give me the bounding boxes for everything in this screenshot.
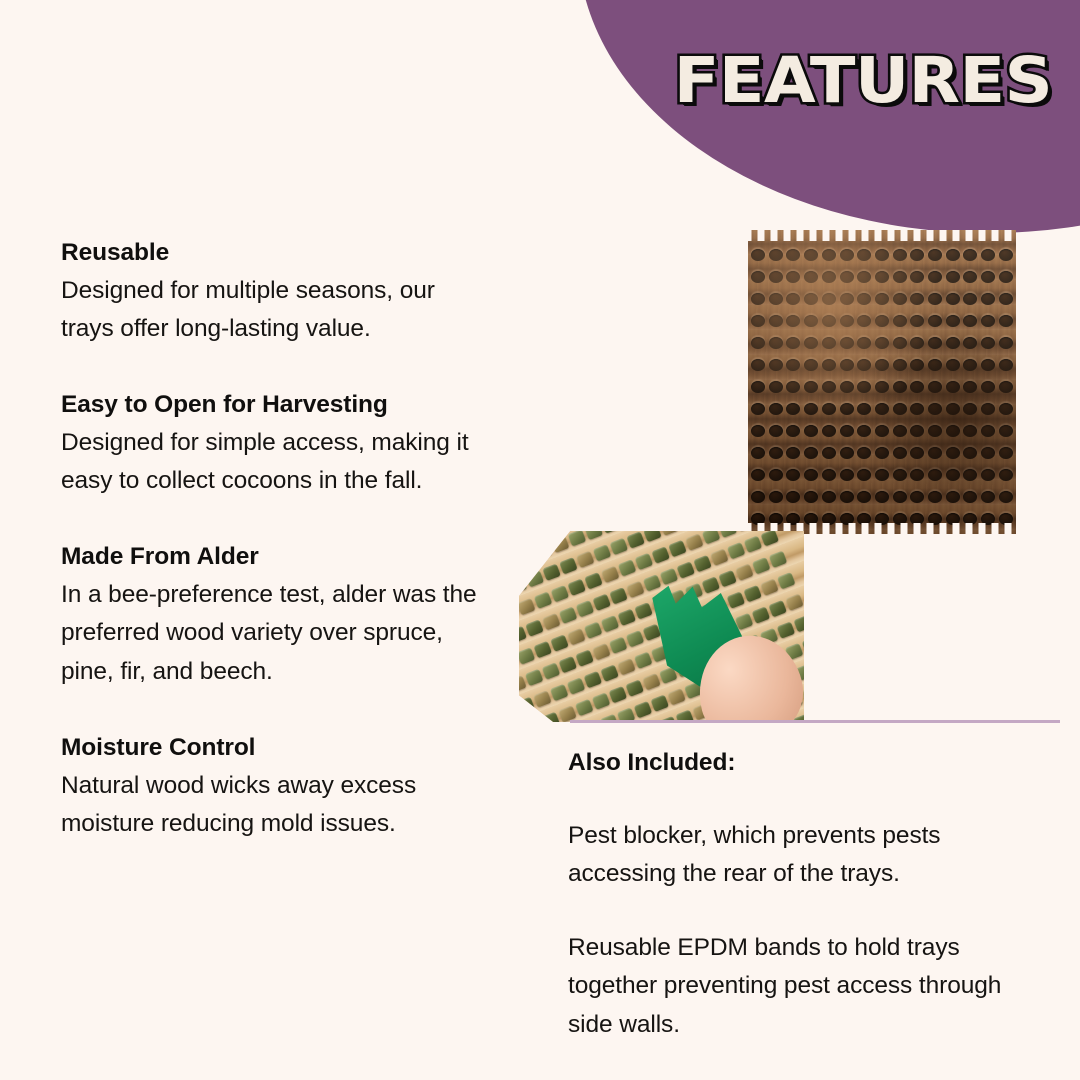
bee-cocoon	[576, 550, 595, 568]
bee-cocoon	[525, 668, 544, 686]
bee-cocoon	[643, 574, 662, 592]
bee-cocoon	[726, 591, 745, 609]
feature-item-moisture-control: Moisture Control Natural wood wicks away…	[61, 731, 491, 843]
bee-cocoon	[744, 535, 763, 553]
bee-cocoon	[634, 651, 653, 669]
bee-cocoon	[626, 580, 645, 598]
cocoon-harvesting-photo	[519, 531, 804, 722]
bee-cocoon	[519, 696, 535, 714]
features-page: FEATURES Reusable Designed for multiple …	[0, 0, 1080, 1080]
bee-cocoon	[643, 531, 662, 542]
bee-cocoon	[550, 683, 569, 701]
feature-body: Natural wood wicks away excess moisture …	[61, 767, 491, 843]
bee-cocoon	[626, 630, 645, 648]
bee-cocoon	[601, 565, 620, 583]
bee-cocoon	[777, 572, 796, 590]
bee-cocoon	[660, 567, 679, 585]
bee-cocoon	[575, 698, 594, 716]
bee-cocoon	[610, 537, 629, 555]
bee-cocoon	[519, 597, 536, 615]
bee-cocoon	[618, 559, 637, 577]
bee-cocoon	[519, 576, 527, 594]
bee-cocoon	[710, 548, 729, 566]
bee-cocoon	[793, 615, 804, 633]
wooden-bee-nesting-tray-stack-photo	[748, 230, 1016, 534]
feature-title: Easy to Open for Harvesting	[61, 388, 491, 423]
bee-cocoon	[735, 563, 754, 581]
bee-cocoon	[685, 533, 704, 551]
bee-cocoon	[617, 608, 636, 626]
bee-cocoon	[743, 584, 762, 602]
bee-cocoon	[584, 621, 603, 639]
also-included-section: Also Included: Pest blocker, which preve…	[568, 746, 1038, 1044]
bee-cocoon	[785, 593, 804, 611]
bee-cocoon	[525, 619, 544, 637]
bee-cocoon	[752, 606, 771, 624]
header-purple-circle	[578, 0, 1080, 233]
bee-cocoon	[719, 531, 738, 538]
feature-title: Moisture Control	[61, 731, 491, 766]
bee-cocoon	[625, 679, 644, 697]
bee-cocoon	[525, 570, 544, 588]
bee-cocoon	[533, 640, 552, 658]
bee-cocoon	[609, 636, 628, 654]
bee-cocoon	[559, 606, 578, 624]
bee-cocoon	[526, 531, 545, 538]
bee-cocoon	[542, 612, 561, 630]
feature-item-made-from-alder: Made From Alder In a bee-preference test…	[61, 540, 491, 690]
bee-cocoon	[768, 600, 787, 618]
bee-cocoon	[609, 685, 628, 703]
bee-cocoon	[559, 557, 578, 575]
feature-list: Reusable Designed for multiple seasons, …	[61, 236, 491, 843]
bee-cocoon	[567, 677, 586, 695]
bee-cocoon	[533, 690, 552, 708]
bee-cocoon	[609, 587, 628, 605]
feature-title: Reusable	[61, 236, 491, 271]
bee-cocoon	[702, 531, 721, 544]
bee-cocoon	[593, 544, 612, 562]
bee-cocoon	[575, 649, 594, 667]
bee-cocoon	[534, 542, 553, 560]
also-included-item: Reusable EPDM bands to hold trays togeth…	[568, 929, 1038, 1044]
bee-cocoon	[525, 718, 544, 722]
bee-cocoon	[701, 576, 720, 594]
bee-cocoon	[541, 711, 560, 722]
bee-cocoon	[651, 546, 670, 564]
bee-cocoon	[550, 634, 569, 652]
feature-item-easy-to-open: Easy to Open for Harvesting Designed for…	[61, 388, 491, 500]
bee-cocoon	[519, 531, 528, 544]
bee-cocoon	[600, 664, 619, 682]
bee-cocoon	[660, 531, 679, 535]
bee-cocoon	[642, 673, 661, 691]
bee-cocoon	[642, 623, 661, 641]
wood-shading-layer	[748, 230, 1016, 534]
feature-body: Designed for multiple seasons, our trays…	[61, 272, 491, 348]
bee-cocoon	[626, 531, 645, 548]
bee-cocoon	[718, 569, 737, 587]
bee-cocoon	[650, 694, 669, 712]
bee-cocoon	[676, 561, 695, 579]
bee-cocoon	[769, 550, 788, 568]
bee-cocoon	[760, 578, 779, 596]
bee-cocoon	[592, 643, 611, 661]
bee-cocoon	[567, 628, 586, 646]
bee-cocoon	[752, 557, 771, 575]
bee-cocoon	[777, 621, 796, 639]
bee-cocoon	[635, 552, 654, 570]
bee-cocoon	[584, 531, 603, 540]
bee-cocoon	[617, 658, 636, 676]
bee-cocoon	[592, 593, 611, 611]
bee-cocoon	[727, 542, 746, 560]
bee-cocoon	[567, 578, 586, 596]
feature-item-reusable: Reusable Designed for multiple seasons, …	[61, 236, 491, 348]
feature-body: In a bee-preference test, alder was the …	[61, 576, 491, 691]
bee-cocoon	[542, 662, 561, 680]
bee-cocoon	[601, 615, 620, 633]
bee-cocoon	[601, 531, 620, 533]
bee-cocoon	[592, 692, 611, 710]
bee-cocoon	[583, 670, 602, 688]
bee-cocoon	[693, 554, 712, 572]
bee-cocoon	[558, 655, 577, 673]
feature-title: Made From Alder	[61, 540, 491, 575]
bee-cocoon	[551, 535, 570, 553]
bee-cocoon	[551, 585, 570, 603]
bee-cocoon	[576, 600, 595, 618]
bee-cocoon	[668, 539, 687, 557]
bee-cocoon	[519, 548, 536, 566]
also-included-title: Also Included:	[568, 746, 1038, 781]
feature-body: Designed for simple access, making it ea…	[61, 424, 491, 500]
page-title: FEATURES	[656, 44, 1069, 116]
bee-cocoon	[568, 531, 587, 546]
bee-cocoon	[584, 572, 603, 590]
bee-cocoon	[634, 701, 653, 719]
also-included-item: Pest blocker, which prevents pests acces…	[568, 817, 1038, 893]
bee-cocoon	[534, 591, 553, 609]
bee-cocoon	[634, 602, 653, 620]
bee-cocoon	[760, 531, 779, 546]
bee-cocoon	[542, 563, 561, 581]
bee-cocoon	[667, 688, 686, 706]
bee-cocoon	[519, 647, 535, 665]
section-divider	[570, 720, 1060, 723]
tray-top-serrated-edge	[748, 230, 1016, 241]
